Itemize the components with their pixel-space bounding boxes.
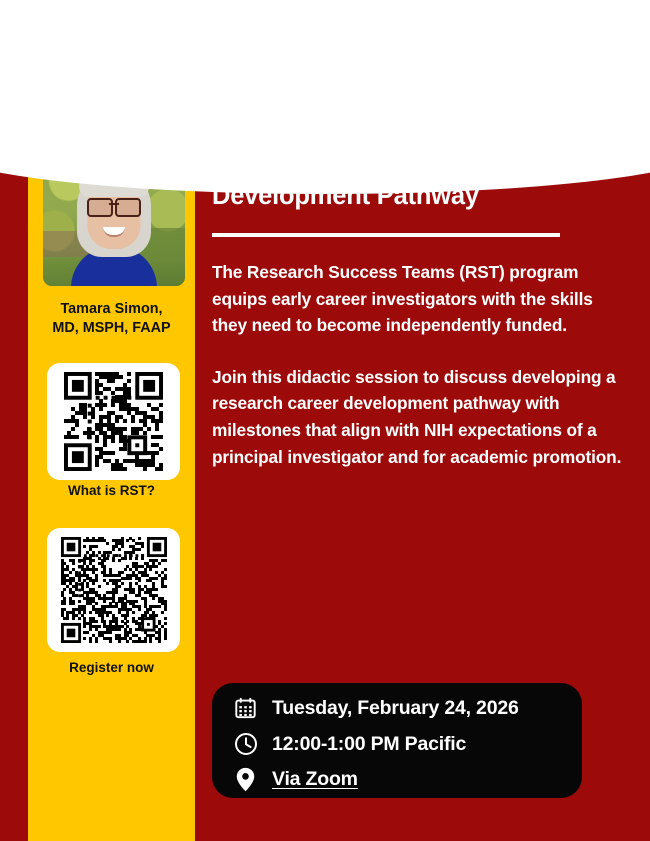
photo-lens-right [115, 198, 141, 217]
event-date-text: Tuesday, February 24, 2026 [272, 697, 519, 720]
title-divider [212, 233, 560, 237]
speaker-name: Tamara Simon, MD, MSPH, FAAP [28, 300, 195, 337]
header-arc-divider [0, 84, 650, 194]
qr-code-register-now[interactable] [47, 528, 180, 652]
event-time-row: 12:00-1:00 PM Pacific [233, 731, 466, 757]
description-paragraph-2: Join this didactic session to discuss de… [212, 364, 630, 470]
qr-code-what-is-rst[interactable] [47, 363, 180, 480]
qr-code-image[interactable] [64, 372, 163, 471]
event-flyer: University of Southern California · Chil… [0, 0, 650, 841]
qr-code-label-register-now: Register now [28, 660, 195, 675]
zoom-link[interactable]: Via Zoom [272, 768, 358, 791]
location-pin-icon [233, 766, 258, 792]
speaker-name-line-1: Tamara Simon, [28, 300, 195, 319]
clock-icon [233, 731, 258, 757]
main-content: Defining your Career Development Pathway… [212, 150, 630, 470]
photo-glasses [87, 198, 141, 213]
description-paragraph-1: The Research Success Teams (RST) program… [212, 259, 630, 339]
event-date-row: Tuesday, February 24, 2026 [233, 695, 519, 721]
speaker-name-line-2: MD, MSPH, FAAP [28, 319, 195, 338]
qr-code-image[interactable] [61, 537, 167, 643]
event-details-box: Tuesday, February 24, 2026 12:00-1:00 PM… [212, 683, 582, 798]
photo-lens-left [87, 198, 113, 217]
event-location-row[interactable]: Via Zoom [233, 766, 358, 792]
qr-code-label-what-is-rst: What is RST? [28, 483, 195, 498]
calendar-icon [233, 695, 258, 721]
event-time-text: 12:00-1:00 PM Pacific [272, 733, 466, 756]
